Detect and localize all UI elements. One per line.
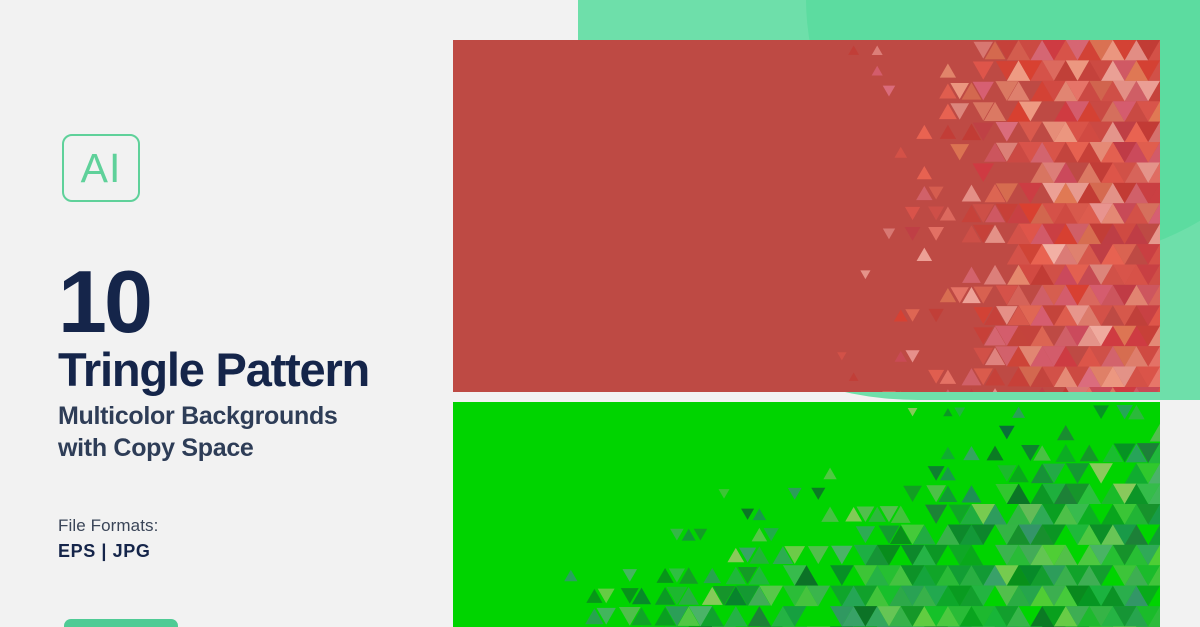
ai-badge-label: AI [81, 148, 122, 189]
subtitle-line-2: with Copy Space [58, 432, 338, 464]
cta-pill[interactable] [64, 619, 178, 627]
info-column: AI 10 Tringle Pattern Multicolor Backgro… [0, 0, 453, 627]
item-count: 10 [58, 258, 150, 346]
subtitle-line-1: Multicolor Backgrounds [58, 400, 338, 432]
page-title: Tringle Pattern [58, 346, 369, 393]
ai-format-badge: AI [62, 134, 140, 202]
preview-green[interactable] [453, 402, 1160, 627]
preview-red[interactable] [453, 40, 1160, 392]
promo-graphic: AI 10 Tringle Pattern Multicolor Backgro… [0, 0, 1200, 627]
file-formats-value: EPS | JPG [58, 541, 150, 562]
page-subtitle: Multicolor Backgrounds with Copy Space [58, 400, 338, 464]
file-formats-label: File Formats: [58, 516, 158, 536]
